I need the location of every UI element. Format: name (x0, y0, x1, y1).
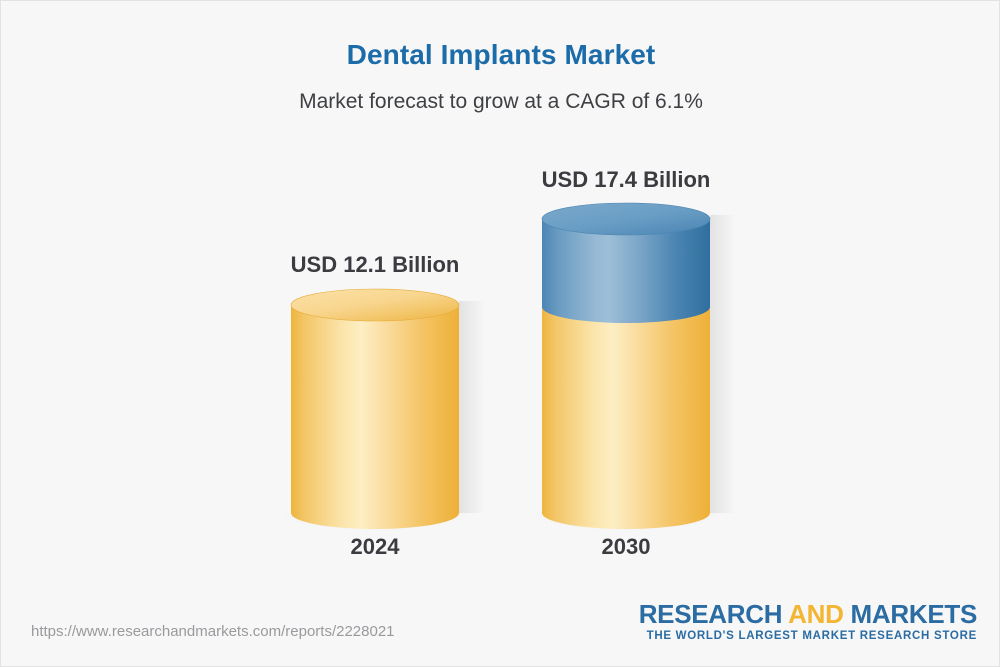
chart-canvas: Dental Implants Market Market forecast t… (0, 0, 1000, 667)
bar-chart-plot (1, 1, 1000, 667)
logo-tagline: THE WORLD'S LARGEST MARKET RESEARCH STOR… (639, 630, 977, 642)
logo-wordmark: RESEARCH AND MARKETS (639, 601, 977, 628)
logo-word-markets: MARKETS (851, 599, 977, 629)
bar-2030 (532, 203, 736, 531)
x-axis-label-2024: 2024 (275, 534, 475, 560)
logo-word-and: AND (788, 599, 843, 629)
research-and-markets-logo[interactable]: RESEARCH AND MARKETS THE WORLD'S LARGEST… (639, 601, 977, 642)
bar-2030-side-shadow (710, 215, 736, 513)
source-url[interactable]: https://www.researchandmarkets.com/repor… (31, 623, 395, 640)
x-axis-label-2030: 2030 (526, 534, 726, 560)
bar-2030-base-segment (542, 307, 710, 529)
bar-2030-cylinder-top (542, 203, 710, 235)
bar-2024-value-label: USD 12.1 Billion (275, 252, 475, 278)
bar-2030-value-label: USD 17.4 Billion (526, 167, 726, 193)
bar-2024-cylinder-body (291, 305, 459, 529)
logo-word-research: RESEARCH (639, 599, 783, 629)
bar-2024 (281, 289, 485, 531)
bar-2024-cylinder-top (291, 289, 459, 321)
bar-2024-side-shadow (459, 301, 485, 513)
